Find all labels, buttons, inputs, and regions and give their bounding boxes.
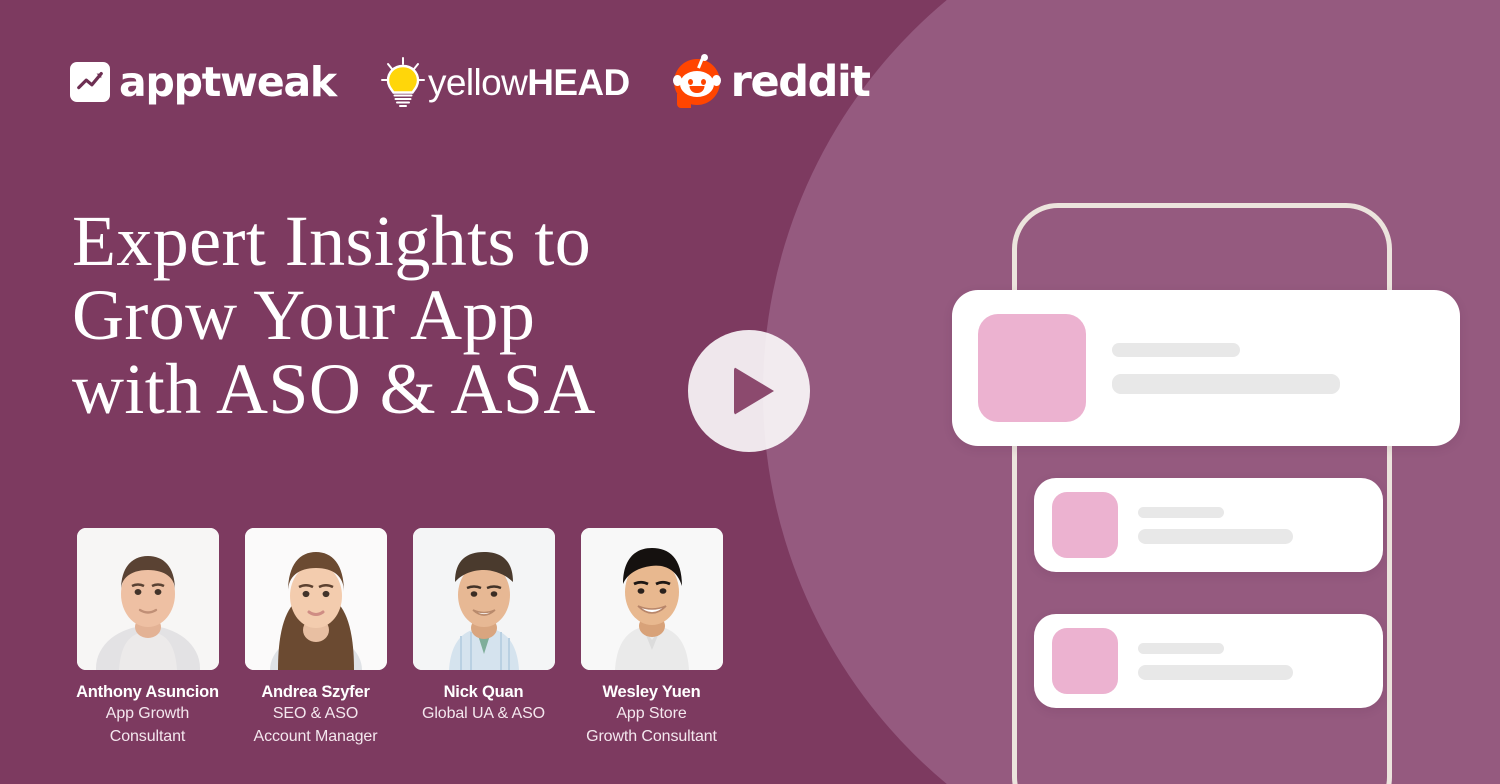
avatar (581, 528, 723, 670)
speaker-name: Wesley Yuen (602, 681, 700, 703)
logo-yellowhead[interactable]: yellowHEAD (380, 56, 630, 108)
text-line-placeholder (1138, 507, 1224, 518)
text-line-placeholder (1138, 643, 1224, 654)
speaker-list: Anthony Asuncion App Growth Consultant (70, 528, 729, 749)
play-triangle-icon (734, 367, 774, 415)
speaker-card: Anthony Asuncion App Growth Consultant (70, 528, 225, 749)
app-icon-placeholder (1052, 492, 1118, 558)
logo-yellowhead-wordmark: yellowHEAD (428, 64, 630, 101)
speaker-role: Global UA & ASO (422, 703, 545, 726)
speaker-name: Nick Quan (444, 681, 524, 703)
play-video-button[interactable] (688, 330, 810, 452)
speaker-name: Anthony Asuncion (76, 681, 219, 703)
speaker-role: SEO & ASO Account Manager (254, 703, 378, 748)
app-text-placeholders (1138, 507, 1293, 544)
logo-yellowhead-word-light: yellow (428, 62, 527, 103)
text-line-placeholder (1138, 529, 1293, 544)
app-icon-placeholder (1052, 628, 1118, 694)
logo-reddit[interactable]: reddit (674, 59, 870, 105)
partner-logo-row: apptweak (70, 56, 869, 108)
speaker-name: Andrea Szyfer (261, 681, 369, 703)
speaker-card: Andrea Szyfer SEO & ASO Account Manager (238, 528, 393, 749)
speaker-role: App Growth Consultant (106, 703, 190, 748)
text-line-placeholder (1112, 374, 1340, 394)
text-line-placeholder (1112, 343, 1240, 357)
avatar (77, 528, 219, 670)
app-text-placeholders (1112, 343, 1340, 394)
app-result-card[interactable] (1034, 478, 1383, 572)
chart-line-icon (70, 62, 110, 102)
speaker-card: Nick Quan Global UA & ASO (406, 528, 561, 726)
avatar (245, 528, 387, 670)
speaker-role: App Store Growth Consultant (586, 703, 717, 748)
app-icon-placeholder (978, 314, 1086, 422)
logo-apptweak-wordmark: apptweak (119, 62, 336, 103)
text-line-placeholder (1138, 665, 1293, 680)
app-result-card[interactable] (952, 290, 1460, 446)
reddit-snoo-icon (674, 59, 720, 105)
logo-yellowhead-word-bold: HEAD (527, 62, 629, 103)
app-text-placeholders (1138, 643, 1293, 680)
webinar-promo-banner: apptweak (0, 0, 1500, 784)
lightbulb-icon (380, 56, 426, 108)
app-result-card[interactable] (1034, 614, 1383, 708)
avatar (413, 528, 555, 670)
page-title: Expert Insights to Grow Your App with AS… (72, 204, 596, 426)
speaker-card: Wesley Yuen App Store Growth Consultant (574, 528, 729, 749)
logo-apptweak[interactable]: apptweak (70, 62, 336, 103)
logo-reddit-wordmark: reddit (731, 61, 870, 104)
